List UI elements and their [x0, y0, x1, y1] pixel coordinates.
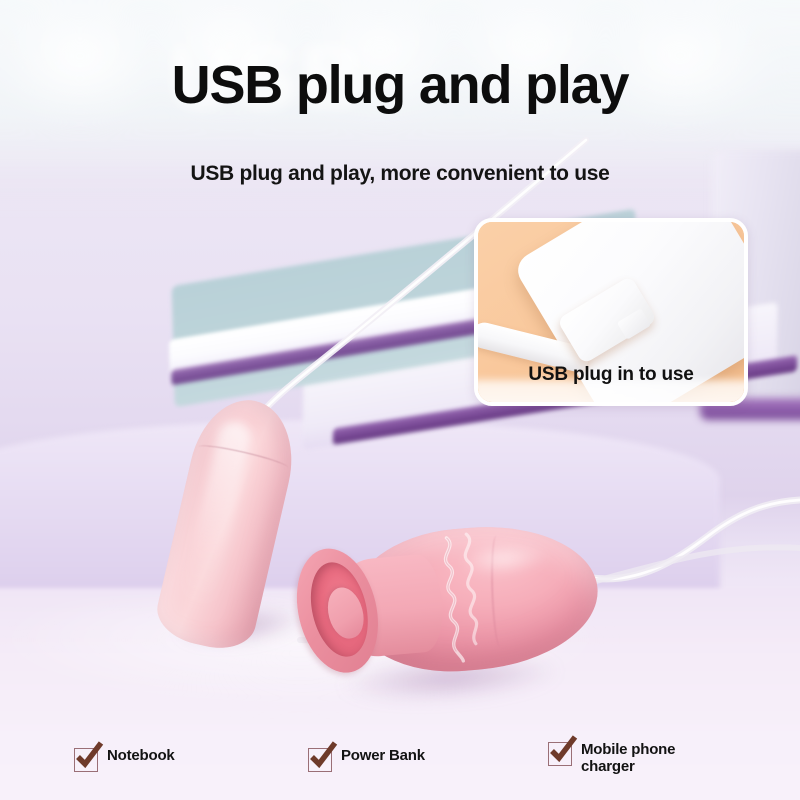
feature-label: Mobile phone charger	[581, 740, 675, 776]
check-mark-icon	[548, 735, 578, 763]
feature-item-mobile-phone-charger[interactable]: Mobile phone charger	[548, 740, 675, 776]
product-flared-icon	[292, 513, 604, 689]
page-subtitle: USB plug and play, more convenient to us…	[0, 162, 800, 186]
feature-label: Notebook	[107, 746, 175, 764]
check-mark-icon	[308, 741, 338, 769]
feature-item-notebook[interactable]: Notebook	[74, 746, 175, 772]
page-title: USB plug and play	[0, 58, 800, 112]
checkbox-checked-icon[interactable]	[74, 748, 98, 772]
product-banner: USB	[0, 0, 800, 800]
inset-caption: USB plug in to use	[478, 364, 744, 386]
check-mark-icon	[74, 741, 104, 769]
feature-list: Notebook Power Bank Mobile phone charger	[0, 738, 800, 794]
usb-plug-inset-panel: USB plug in to use	[474, 218, 748, 406]
feature-label: Power Bank	[341, 746, 425, 764]
feature-item-power-bank[interactable]: Power Bank	[308, 746, 425, 772]
checkbox-checked-icon[interactable]	[548, 742, 572, 766]
checkbox-checked-icon[interactable]	[308, 748, 332, 772]
